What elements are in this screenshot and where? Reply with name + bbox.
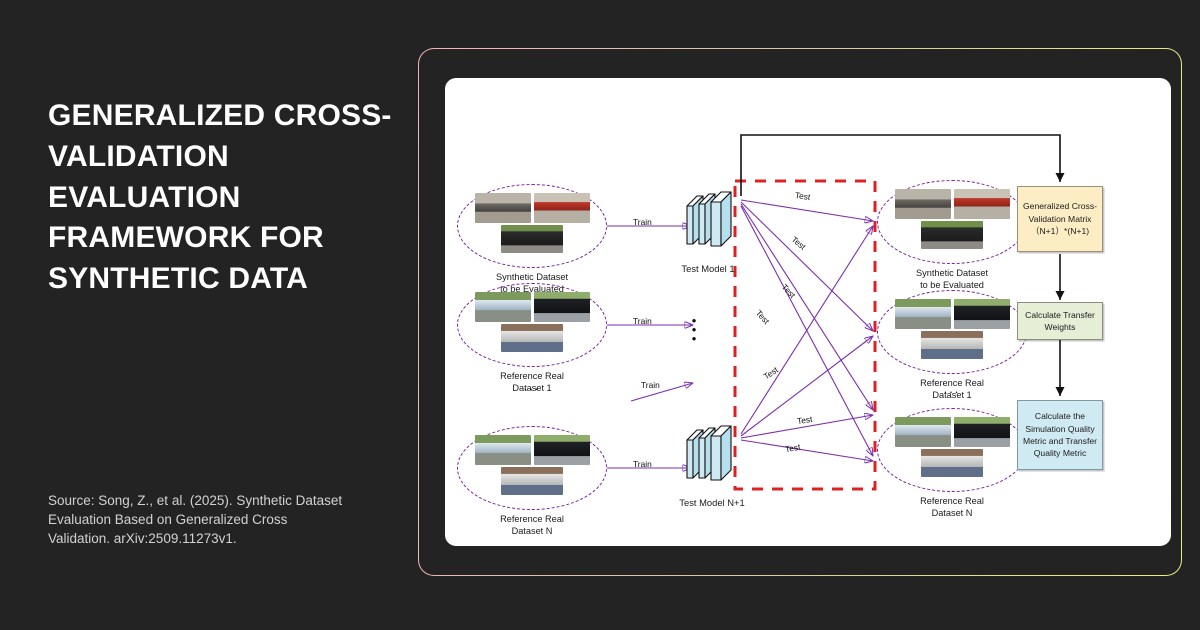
left-dataset-synthetic[interactable]: Synthetic Dataset to be Evaluated <box>457 184 607 296</box>
car-photo-thumb <box>954 189 1010 219</box>
car-photo-thumb <box>501 225 563 253</box>
right-dataset-synthetic[interactable]: Synthetic Dataset to be Evaluated <box>877 180 1027 292</box>
ellipse-shell <box>877 290 1027 374</box>
dataset-label-line1: Reference Real <box>457 513 607 525</box>
ellipse-shell <box>457 184 607 268</box>
car-photo-thumb <box>895 189 951 219</box>
test-label: Test <box>754 308 772 326</box>
car-photo-thumb <box>895 417 951 447</box>
ellipse-shell <box>877 408 1027 492</box>
thumbnail-stack <box>893 299 1011 359</box>
model-label: Test Model N+1 <box>669 497 755 508</box>
dataset-label-line1: Synthetic Dataset <box>877 267 1027 279</box>
model-ellipsis: • • • <box>681 316 707 343</box>
flow-box-text: Calculate Transfer Weights <box>1025 309 1095 334</box>
framework-diagram: Synthetic Dataset to be Evaluated Refere… <box>445 78 1171 546</box>
train-label: Train <box>633 316 652 326</box>
ellipse-shell <box>457 283 607 367</box>
test-label: Test <box>796 414 813 426</box>
dataset-label: Synthetic Dataset to be Evaluated <box>877 267 1027 292</box>
car-photo-thumb <box>475 193 531 223</box>
dataset-label: Reference Real Dataset N <box>457 513 607 538</box>
car-photo-thumb <box>534 292 590 322</box>
dataset-label-line1: Reference Real <box>877 495 1027 507</box>
train-label: Train <box>641 380 660 390</box>
flow-line: （N+1）*(N+1) <box>1023 225 1097 237</box>
thumbnail-stack <box>473 193 591 253</box>
poster-root: GENERALIZED CROSS-VALIDATION EVALUATION … <box>0 0 1200 630</box>
flow-box-weights[interactable]: Calculate Transfer Weights <box>1017 302 1103 340</box>
flow-line: Calculate the <box>1023 410 1097 422</box>
flow-line: Calculate Transfer <box>1025 309 1095 321</box>
thumbnail-stack <box>473 435 591 495</box>
train-label: Train <box>633 459 652 469</box>
flow-box-quality[interactable]: Calculate the Simulation Quality Metric … <box>1017 400 1103 470</box>
neural-net-icon <box>683 184 745 256</box>
test-model-n-plus-1[interactable]: Test Model N+1 <box>683 418 755 508</box>
car-photo-thumb <box>921 331 983 359</box>
test-label: Test <box>784 442 801 455</box>
train-label: Train <box>633 217 652 227</box>
flow-line: Quality Metric <box>1023 447 1097 459</box>
right-dataset-ellipsis: ... <box>877 381 1027 396</box>
flow-box-matrix[interactable]: Generalized Cross- Validation Matrix （N+… <box>1017 186 1103 252</box>
test-label: Test <box>794 190 811 202</box>
flow-line: Validation Matrix <box>1023 213 1097 225</box>
car-photo-thumb <box>954 417 1010 447</box>
car-photo-thumb <box>534 193 590 223</box>
flow-line: Metric and Transfer <box>1023 435 1097 447</box>
car-photo-thumb <box>895 299 951 329</box>
dataset-label-line2: Dataset N <box>457 525 607 537</box>
test-label: Test <box>780 282 798 300</box>
left-dataset-refN[interactable]: Reference Real Dataset N <box>457 426 607 538</box>
model-label: Test Model 1 <box>677 263 739 274</box>
flow-line: Generalized Cross- <box>1023 200 1097 212</box>
dataset-label-line1: Synthetic Dataset <box>457 271 607 283</box>
thumbnail-stack <box>893 189 1011 249</box>
thumbnail-stack <box>473 292 591 352</box>
left-dataset-ellipsis: ... <box>457 378 607 393</box>
car-photo-thumb <box>921 221 983 249</box>
left-text-panel: GENERALIZED CROSS-VALIDATION EVALUATION … <box>48 0 398 630</box>
flow-box-text: Generalized Cross- Validation Matrix （N+… <box>1023 200 1097 237</box>
flow-line: Simulation Quality <box>1023 423 1097 435</box>
dot: • <box>681 334 707 343</box>
dataset-label: Reference Real Dataset N <box>877 495 1027 520</box>
flow-line: Weights <box>1025 321 1095 333</box>
test-label: Test <box>790 234 808 252</box>
car-photo-thumb <box>475 435 531 465</box>
dataset-label-line2: Dataset N <box>877 507 1027 519</box>
source-citation: Source: Song, Z., et al. (2025). Synthet… <box>48 491 348 548</box>
car-photo-thumb <box>534 435 590 465</box>
neural-net-icon <box>683 418 745 490</box>
car-photo-thumb <box>475 292 531 322</box>
car-photo-thumb <box>954 299 1010 329</box>
test-label: Test <box>762 365 780 382</box>
thumbnail-stack <box>893 417 1011 477</box>
test-model-1[interactable]: Test Model 1 <box>683 184 745 274</box>
car-photo-thumb <box>501 324 563 352</box>
ellipse-shell <box>457 426 607 510</box>
ellipse-shell <box>877 180 1027 264</box>
car-photo-thumb <box>921 449 983 477</box>
page-title: GENERALIZED CROSS-VALIDATION EVALUATION … <box>48 96 393 300</box>
car-photo-thumb <box>501 467 563 495</box>
right-dataset-refN[interactable]: Reference Real Dataset N <box>877 408 1027 520</box>
figure-card: Synthetic Dataset to be Evaluated Refere… <box>445 78 1171 546</box>
flow-box-text: Calculate the Simulation Quality Metric … <box>1023 410 1097 460</box>
